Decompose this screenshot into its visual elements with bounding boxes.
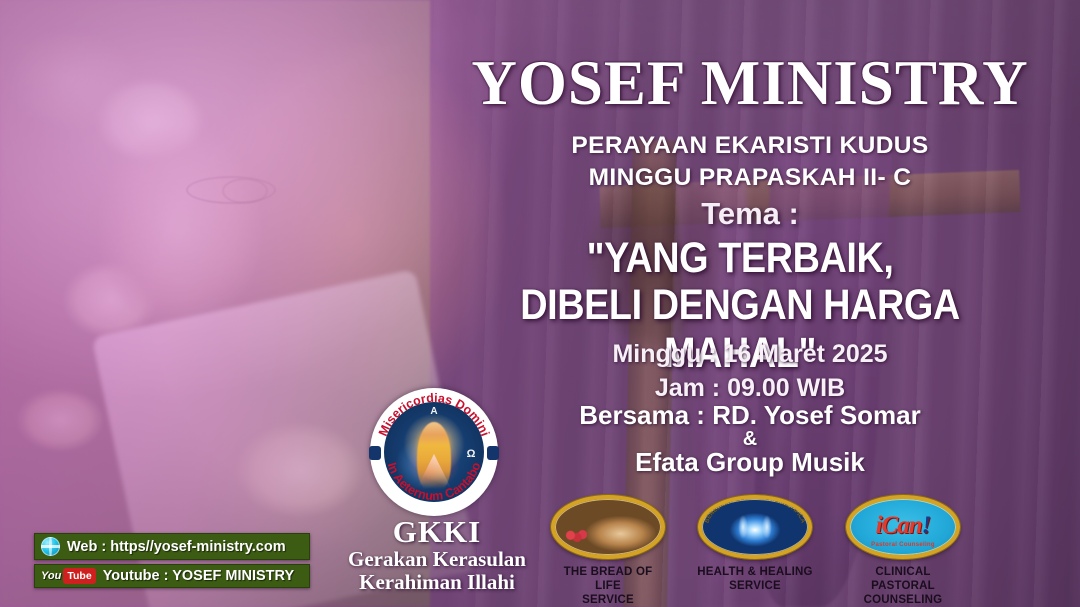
gkki-abbreviation: GKKI (322, 516, 552, 548)
contact-info: Web : https//yosef-ministry.com You Tube… (34, 533, 310, 592)
ican-subtext: Pastoral Counseling (850, 542, 956, 548)
badge-caption: CLINICAL PASTORAL COUNSELING SERVICE (845, 565, 961, 607)
service-badge-health-healing: BENEDICAT ILLUMINA ET SANCTIFICA HEALTH … (697, 495, 813, 593)
website-bar[interactable]: Web : https//yosef-ministry.com (34, 533, 310, 560)
svg-text:BENEDICAT ILLUMINA ET SANCTIFI: BENEDICAT ILLUMINA ET SANCTIFICA (704, 495, 805, 525)
emblem-ring-text: Misericordias Domini In Aeternum Cantabo… (370, 388, 498, 516)
badge-caption: HEALTH & HEALING SERVICE (697, 565, 813, 593)
ican-logo-icon: iCan! Pastoral Counseling (846, 495, 960, 559)
event-date: Minggu : 16 Maret 2025 (430, 338, 1070, 372)
theme-line-1: "YANG TERBAIK, (441, 236, 1039, 281)
service-badge-bread-of-life: THE BREAD OF LIFE SERVICE (550, 495, 666, 607)
healing-hands-icon: BENEDICAT ILLUMINA ET SANCTIFICA (698, 495, 812, 559)
badge-caption-line-1: THE BREAD OF LIFE (550, 565, 666, 593)
music-group: Efata Group Musik (430, 447, 1070, 478)
gkki-name-line-1: Gerakan Kerasulan (322, 548, 552, 572)
badge-caption-line-1: HEALTH & HEALING (697, 565, 813, 579)
youtube-label: Youtube : YOSEF MINISTRY (103, 568, 294, 584)
page-title: YOSEF MINISTRY (430, 52, 1070, 115)
svg-text:A: A (430, 406, 437, 417)
gkki-name-line-2: Kerahiman Illahi (322, 571, 552, 595)
badge-caption-line-1: CLINICAL PASTORAL (845, 565, 961, 593)
ican-text: iCan (876, 512, 922, 539)
ican-wordmark: iCan! (876, 513, 931, 538)
badge-ring-text: BENEDICAT ILLUMINA ET SANCTIFICA (698, 495, 812, 559)
event-subtitle: PERAYAAN EKARISTI KUDUS MINGGU PRAPASKAH… (430, 130, 1070, 195)
gkki-name: GKKI Gerakan Kerasulan Kerahiman Illahi (322, 516, 552, 595)
badge-caption: THE BREAD OF LIFE SERVICE (550, 565, 666, 607)
youtube-you-text: You (41, 571, 61, 582)
badge-caption-line-2: SERVICE (550, 593, 666, 607)
website-label: Web : https//yosef-ministry.com (67, 539, 286, 555)
badge-caption-line-2: COUNSELING SERVICE (845, 593, 961, 607)
svg-text:In Aeternum Cantabo: In Aeternum Cantabo (385, 460, 484, 503)
schedule: Minggu : 16 Maret 2025 Jam : 09.00 WIB (430, 338, 1070, 405)
chalice-bread-icon (551, 495, 665, 559)
globe-icon (41, 537, 60, 556)
youtube-icon: You Tube (41, 568, 96, 584)
service-badge-clinical-pastoral: iCan! Pastoral Counseling CLINICAL PASTO… (845, 495, 961, 607)
youtube-tube-text: Tube (63, 568, 95, 584)
theme-label: Tema : (430, 196, 1070, 232)
subtitle-line-2: MINGGU PRAPASKAH II- C (430, 162, 1070, 194)
ican-exclamation: ! (922, 512, 931, 539)
poster: YOSEF MINISTRY PERAYAAN EKARISTI KUDUS M… (0, 0, 1080, 607)
badge-caption-line-2: SERVICE (697, 579, 813, 593)
youtube-bar[interactable]: You Tube Youtube : YOSEF MINISTRY (34, 564, 310, 588)
svg-text:Ω: Ω (467, 448, 476, 460)
celebrant: Bersama : RD. Yosef Somar (430, 400, 1070, 431)
gkki-emblem: Misericordias Domini In Aeternum Cantabo… (370, 388, 498, 516)
subtitle-line-1: PERAYAAN EKARISTI KUDUS (430, 130, 1070, 162)
